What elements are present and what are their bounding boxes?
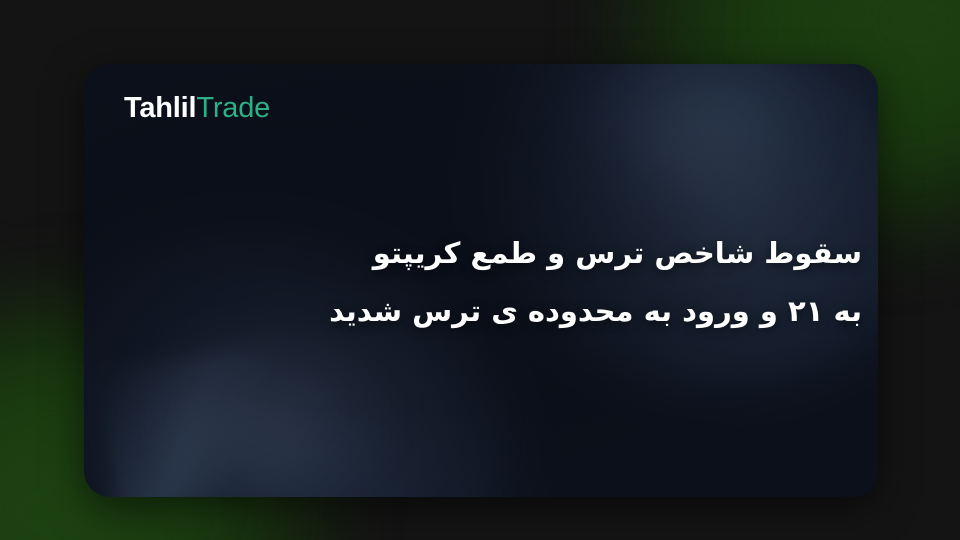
headline: سقوط شاخص ترس و طمع کریپتو به ۲۱ و ورود … <box>222 224 862 340</box>
slide-canvas: TahlilTrade سقوط شاخص ترس و طمع کریپتو ب… <box>0 0 960 540</box>
headline-line-1: سقوط شاخص ترس و طمع کریپتو <box>222 224 862 282</box>
brand-logo-primary: Tahlil <box>124 92 196 124</box>
smoke-wisp <box>94 345 303 497</box>
headline-line-2: به ۲۱ و ورود به محدوده ی ترس شدید <box>222 282 862 340</box>
card-haze-bottom-left-bloom <box>124 337 384 497</box>
brand-logo[interactable]: TahlilTrade <box>124 94 270 123</box>
content-card: TahlilTrade سقوط شاخص ترس و طمع کریپتو ب… <box>84 64 878 497</box>
brand-logo-secondary: Trade <box>196 92 270 124</box>
